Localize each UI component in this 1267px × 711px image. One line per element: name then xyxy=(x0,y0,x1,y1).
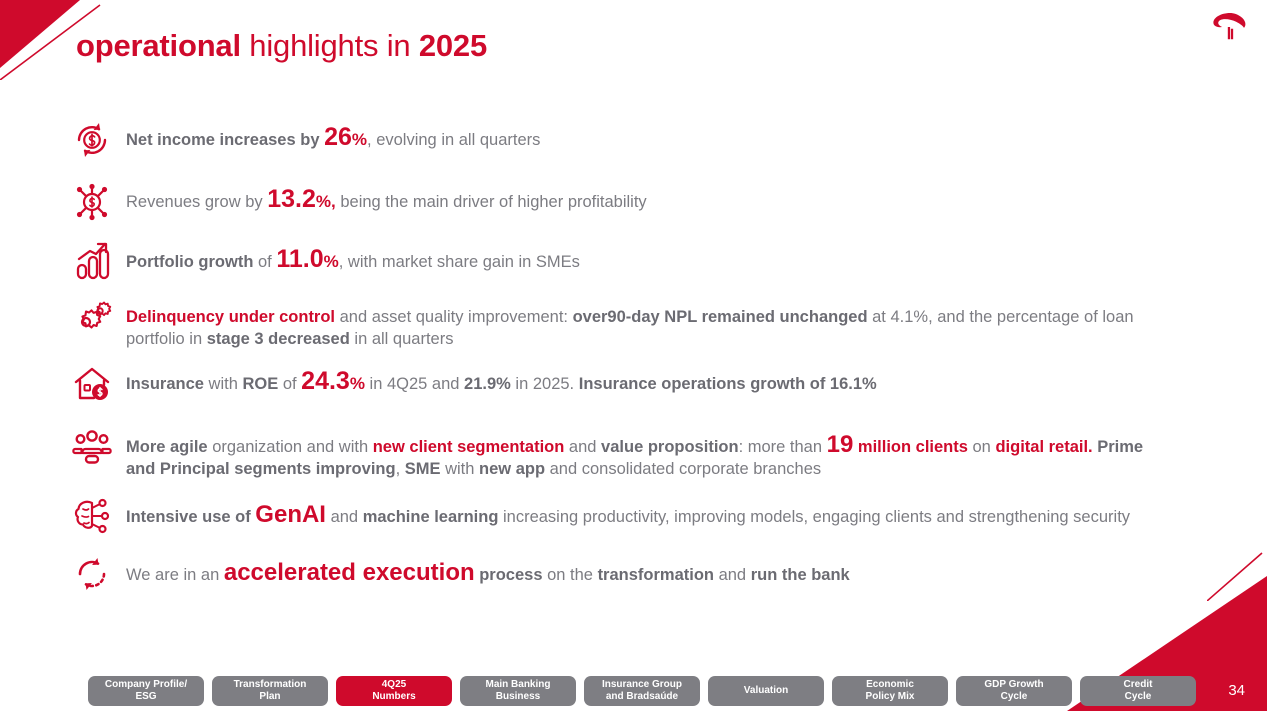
highlight-item: More agile organization and with new cli… xyxy=(0,424,1267,480)
footer-navigation[interactable]: Company Profile/ESGTransformationPlan4Q2… xyxy=(88,676,1196,706)
text-fragment: in 4Q25 and xyxy=(365,375,464,393)
refresh-cycle-icon xyxy=(70,552,114,596)
text-fragment: 19 xyxy=(827,431,854,458)
footer-nav-chip[interactable]: Company Profile/ESG xyxy=(88,676,204,706)
text-fragment: with xyxy=(204,375,243,393)
text-fragment: with xyxy=(441,460,480,478)
text-fragment: Insurance operations growth of 16.1% xyxy=(579,375,877,393)
footer-nav-chip[interactable]: 4Q25Numbers xyxy=(336,676,452,706)
text-fragment: % xyxy=(350,374,365,393)
bradesco-tree-logo-icon xyxy=(1209,6,1251,48)
text-fragment: value proposition xyxy=(601,438,739,456)
people-group-icon xyxy=(70,424,114,468)
text-fragment: % xyxy=(352,130,367,149)
top-left-triangle-decoration xyxy=(0,0,80,68)
highlight-text: Insurance with ROE of 24.3% in 4Q25 and … xyxy=(126,362,877,395)
highlight-text: Net income increases by 26%, evolving in… xyxy=(126,118,540,151)
highlight-text: Revenues grow by 13.2%, being the main d… xyxy=(126,180,647,213)
text-fragment: % xyxy=(324,252,339,271)
text-fragment: accelerated execution xyxy=(224,559,475,586)
title-bold-word: operational xyxy=(76,28,241,63)
text-fragment: More agile xyxy=(126,438,208,456)
text-fragment: of xyxy=(253,253,276,271)
text-fragment: machine learning xyxy=(363,508,499,526)
text-fragment: increasing productivity, improving model… xyxy=(498,508,1130,526)
text-fragment: 13.2 xyxy=(267,185,316,213)
text-fragment: SME xyxy=(405,460,441,478)
highlight-item: Revenues grow by 13.2%, being the main d… xyxy=(0,180,1267,224)
text-fragment: and xyxy=(326,508,363,526)
footer-nav-chip[interactable]: EconomicPolicy Mix xyxy=(832,676,948,706)
text-fragment: run the bank xyxy=(751,566,850,584)
text-fragment: We are in an xyxy=(126,566,224,584)
text-fragment: ROE xyxy=(242,375,278,393)
text-fragment: and consolidated corporate branches xyxy=(545,460,821,478)
text-fragment: being the main driver of higher profitab… xyxy=(336,193,647,211)
page-number: 34 xyxy=(1228,682,1245,699)
text-fragment: , evolving in all quarters xyxy=(367,131,540,149)
text-fragment: stage 3 decreased xyxy=(207,330,350,348)
title-light-words: highlights in xyxy=(241,28,419,63)
ai-brain-icon xyxy=(70,494,114,538)
text-fragment: Revenues grow by xyxy=(126,193,267,211)
text-fragment: Net income increases by xyxy=(126,131,324,149)
text-fragment: and asset quality improvement: xyxy=(335,308,573,326)
text-fragment: and xyxy=(564,438,601,456)
text-fragment: GenAI xyxy=(255,501,326,528)
highlight-item: We are in an accelerated execution proce… xyxy=(0,552,1267,596)
highlight-item: Intensive use of GenAI and machine learn… xyxy=(0,494,1267,538)
text-fragment: on xyxy=(968,438,996,456)
title-year: 2025 xyxy=(419,28,487,63)
text-fragment: over90-day NPL remained unchanged xyxy=(573,308,868,326)
highlight-text: Portfolio growth of 11.0%, with market s… xyxy=(126,240,580,273)
text-fragment: 26 xyxy=(324,123,352,151)
text-fragment: %, xyxy=(316,192,336,211)
footer-nav-chip[interactable]: Main BankingBusiness xyxy=(460,676,576,706)
text-fragment: million clients xyxy=(853,438,968,456)
bar-chart-growth-icon xyxy=(70,240,114,284)
text-fragment: 11.0 xyxy=(276,245,323,273)
page-title: operational highlights in 2025 xyxy=(76,28,487,64)
footer-nav-chip[interactable]: Insurance Groupand Bradsaúde xyxy=(584,676,700,706)
slide-root: operational highlights in 2025 Net incom… xyxy=(0,0,1267,711)
footer-nav-chip[interactable]: TransformationPlan xyxy=(212,676,328,706)
text-fragment: Insurance xyxy=(126,375,204,393)
text-fragment: organization and with xyxy=(208,438,373,456)
text-fragment: new app xyxy=(479,460,545,478)
highlight-item: Delinquency under control and asset qual… xyxy=(0,296,1267,350)
text-fragment: and xyxy=(714,566,751,584)
text-fragment: 24.3 xyxy=(301,367,350,395)
highlights-list: Net income increases by 26%, evolving in… xyxy=(0,118,1267,611)
text-fragment: in all quarters xyxy=(350,330,454,348)
text-fragment: Intensive use of xyxy=(126,508,255,526)
text-fragment: Delinquency under control xyxy=(126,308,335,326)
text-fragment: new client segmentation xyxy=(373,438,565,456)
text-fragment: , with market share gain in SMEs xyxy=(339,253,580,271)
footer-nav-chip[interactable]: Valuation xyxy=(708,676,824,706)
footer-nav-chip[interactable]: GDP GrowthCycle xyxy=(956,676,1072,706)
text-fragment: in 2025. xyxy=(511,375,579,393)
text-fragment: , xyxy=(396,460,405,478)
highlight-item: Portfolio growth of 11.0%, with market s… xyxy=(0,240,1267,284)
house-insurance-icon xyxy=(70,362,114,406)
text-fragment: transformation xyxy=(598,566,714,584)
text-fragment: 21.9% xyxy=(464,375,511,393)
revenue-network-icon xyxy=(70,180,114,224)
text-fragment: process xyxy=(475,566,543,584)
text-fragment: on the xyxy=(543,566,598,584)
highlight-text: More agile organization and with new cli… xyxy=(126,424,1161,480)
money-cycle-icon xyxy=(70,118,114,162)
highlight-text: We are in an accelerated execution proce… xyxy=(126,552,850,586)
highlight-item: Net income increases by 26%, evolving in… xyxy=(0,118,1267,162)
footer-nav-chip[interactable]: CreditCycle xyxy=(1080,676,1196,706)
text-fragment: : more than xyxy=(739,438,827,456)
text-fragment: Portfolio growth xyxy=(126,253,253,271)
highlight-item: Insurance with ROE of 24.3% in 4Q25 and … xyxy=(0,362,1267,406)
gears-icon xyxy=(70,296,114,340)
text-fragment: of xyxy=(278,375,301,393)
highlight-text: Delinquency under control and asset qual… xyxy=(126,296,1161,350)
text-fragment: digital retail. xyxy=(995,438,1092,456)
highlight-text: Intensive use of GenAI and machine learn… xyxy=(126,494,1130,528)
